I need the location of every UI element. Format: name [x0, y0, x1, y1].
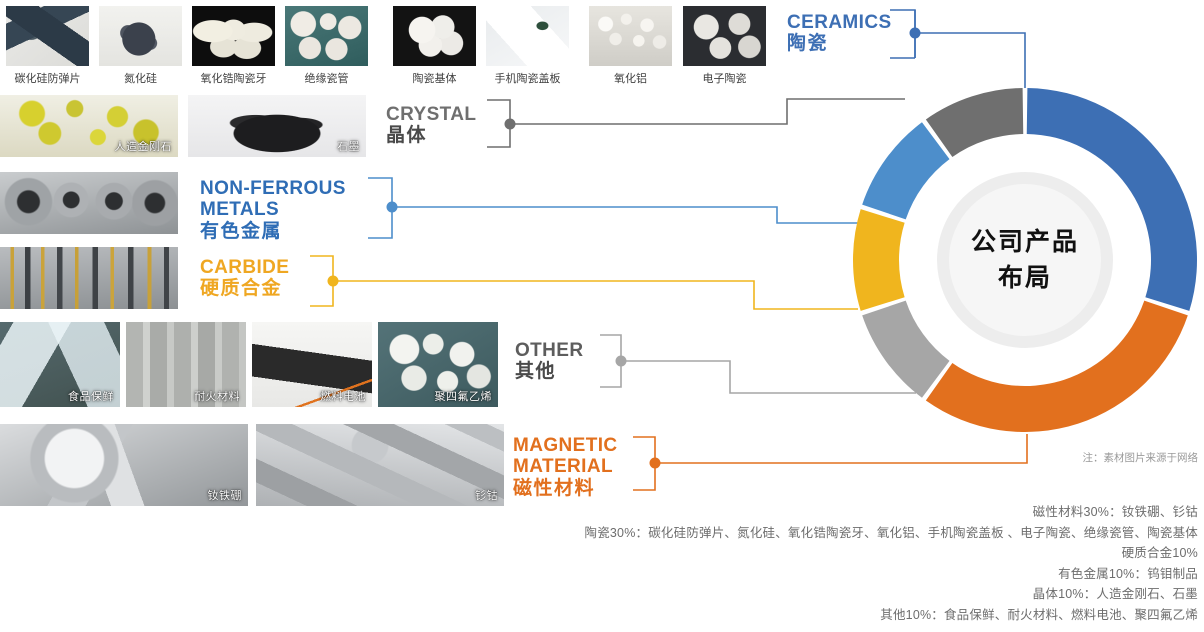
tile-image: [0, 247, 178, 309]
category-cn: 陶瓷: [787, 33, 892, 56]
legend-row: 磁性材料30%：钕铁硼、钐钴: [398, 502, 1198, 523]
tile-caption-overlay: 人造金刚石: [115, 138, 173, 154]
category-cn: 有色金属: [200, 221, 346, 244]
donut-center-line1: 公司产品: [971, 224, 1079, 260]
category-label-other[interactable]: OTHER 其他: [515, 340, 584, 384]
product-tile-ceramics-1: [6, 6, 89, 66]
connector-carbide: [310, 256, 858, 309]
product-tile-crystal-2: 石墨: [188, 95, 366, 157]
category-label-ceramics[interactable]: CERAMICS 陶瓷: [787, 12, 892, 56]
category-en-line1: MAGNETIC: [513, 435, 618, 456]
tile-caption: 氧化锆陶瓷牙: [192, 70, 275, 86]
legend-row: 其他10%：食品保鲜、耐火材料、燃料电池、聚四氟乙烯: [398, 605, 1198, 626]
category-cn: 磁性材料: [513, 478, 618, 501]
tile-image-detail: [486, 6, 569, 66]
tile-image-shapes: [6, 6, 89, 66]
donut-segment-other[interactable]: [862, 301, 949, 398]
product-tile-ceramics-2: [99, 6, 182, 66]
tile-caption-overlay: 食品保鲜: [68, 388, 114, 404]
legend-row: 硬质合金10%: [398, 543, 1198, 564]
product-tile-ceramics-5: [393, 6, 476, 66]
category-en: OTHER: [515, 340, 584, 361]
product-tile-carbide-1: [0, 247, 178, 309]
connector-ceramics: [890, 10, 1025, 88]
category-label-nonferrous[interactable]: NON-FERROUS METALS 有色金属: [200, 178, 346, 243]
tile-caption-overlay: 耐火材料: [194, 388, 240, 404]
category-en: CRYSTAL: [386, 104, 476, 125]
infographic-canvas: 碳化硅防弹片 氮化硅 氧化锆陶瓷牙 绝缘瓷管 陶瓷基体 手机陶瓷盖板 氧化铝 电…: [0, 0, 1204, 632]
category-cn: 晶体: [386, 125, 476, 148]
category-cn: 其他: [515, 361, 584, 384]
source-note: 注：素材图片来源于网络: [1083, 450, 1199, 465]
category-label-carbide[interactable]: CARBIDE 硬质合金: [200, 257, 289, 301]
tile-image: [0, 172, 178, 234]
tile-caption: 碳化硅防弹片: [6, 70, 89, 86]
tile-image: [192, 6, 275, 66]
category-en-line1: NON-FERROUS: [200, 178, 346, 199]
tile-caption: 陶瓷基体: [393, 70, 476, 86]
connector-nonferrous: [368, 178, 868, 238]
product-tile-magnetic-1: 钕铁硼: [0, 424, 248, 506]
legend-row: 有色金属10%：钨钼制品: [398, 564, 1198, 585]
category-en: CERAMICS: [787, 12, 892, 33]
category-en-line2: METALS: [200, 199, 346, 220]
donut-center-label: 公司产品 布局: [937, 172, 1113, 348]
product-tile-magnetic-2: 钐钴: [256, 424, 504, 506]
product-tile-other-1: 食品保鲜: [0, 322, 120, 407]
product-tile-ceramics-7: [589, 6, 672, 66]
tile-caption: 绝缘瓷管: [285, 70, 368, 86]
tile-caption: 氧化铝: [589, 70, 672, 86]
tile-image: [589, 6, 672, 66]
tile-image: [393, 6, 476, 66]
product-tile-other-2: 耐火材料: [126, 322, 246, 407]
tile-caption-overlay: 石墨: [337, 138, 360, 154]
product-tile-other-4: 聚四氟乙烯: [378, 322, 498, 407]
product-tile-crystal-1: 人造金刚石: [0, 95, 178, 157]
product-tile-other-3: 燃料电池: [252, 322, 372, 407]
donut-segment-carbide[interactable]: [853, 209, 905, 311]
tile-image: [99, 6, 182, 66]
tile-caption: 氮化硅: [99, 70, 182, 86]
tile-caption-overlay: 钕铁硼: [208, 487, 243, 503]
tile-image: [683, 6, 766, 66]
product-tile-ceramics-8: [683, 6, 766, 66]
connector-magnetic: [633, 434, 1027, 490]
category-en-line2: MATERIAL: [513, 456, 618, 477]
legend-row: 晶体10%：人造金刚石、石墨: [398, 584, 1198, 605]
tile-image: [285, 6, 368, 66]
tile-image: [256, 424, 504, 506]
tile-caption-overlay: 燃料电池: [320, 388, 366, 404]
category-label-magnetic[interactable]: MAGNETIC MATERIAL 磁性材料: [513, 435, 618, 500]
product-tile-ceramics-3: [192, 6, 275, 66]
tile-caption-overlay: 聚四氟乙烯: [435, 388, 493, 404]
legend-row: 陶瓷30%：碳化硅防弹片、氮化硅、氧化锆陶瓷牙、氧化铝、手机陶瓷盖板 、电子陶瓷…: [398, 523, 1198, 544]
category-en: CARBIDE: [200, 257, 289, 278]
legend-list: 磁性材料30%：钕铁硼、钐钴 陶瓷30%：碳化硅防弹片、氮化硅、氧化锆陶瓷牙、氧…: [398, 502, 1198, 625]
category-label-crystal[interactable]: CRYSTAL 晶体: [386, 104, 476, 148]
donut-chart[interactable]: 公司产品 布局: [845, 80, 1204, 440]
product-tile-ceramics-6: [486, 6, 569, 66]
donut-center-line2: 布局: [971, 260, 1079, 296]
connector-crystal: [487, 99, 905, 147]
donut-segment-non-ferrous-metals[interactable]: [862, 122, 949, 219]
product-tile-ceramics-4: [285, 6, 368, 66]
donut-segment-crystal[interactable]: [926, 88, 1023, 157]
category-cn: 硬质合金: [200, 278, 289, 301]
tile-caption: 电子陶瓷: [683, 70, 766, 86]
product-tile-nonferrous-1: [0, 172, 178, 234]
tile-caption: 手机陶瓷盖板: [486, 70, 569, 86]
donut-center-text: 公司产品 布局: [971, 224, 1079, 297]
tile-caption-overlay: 钐钴: [475, 487, 498, 503]
